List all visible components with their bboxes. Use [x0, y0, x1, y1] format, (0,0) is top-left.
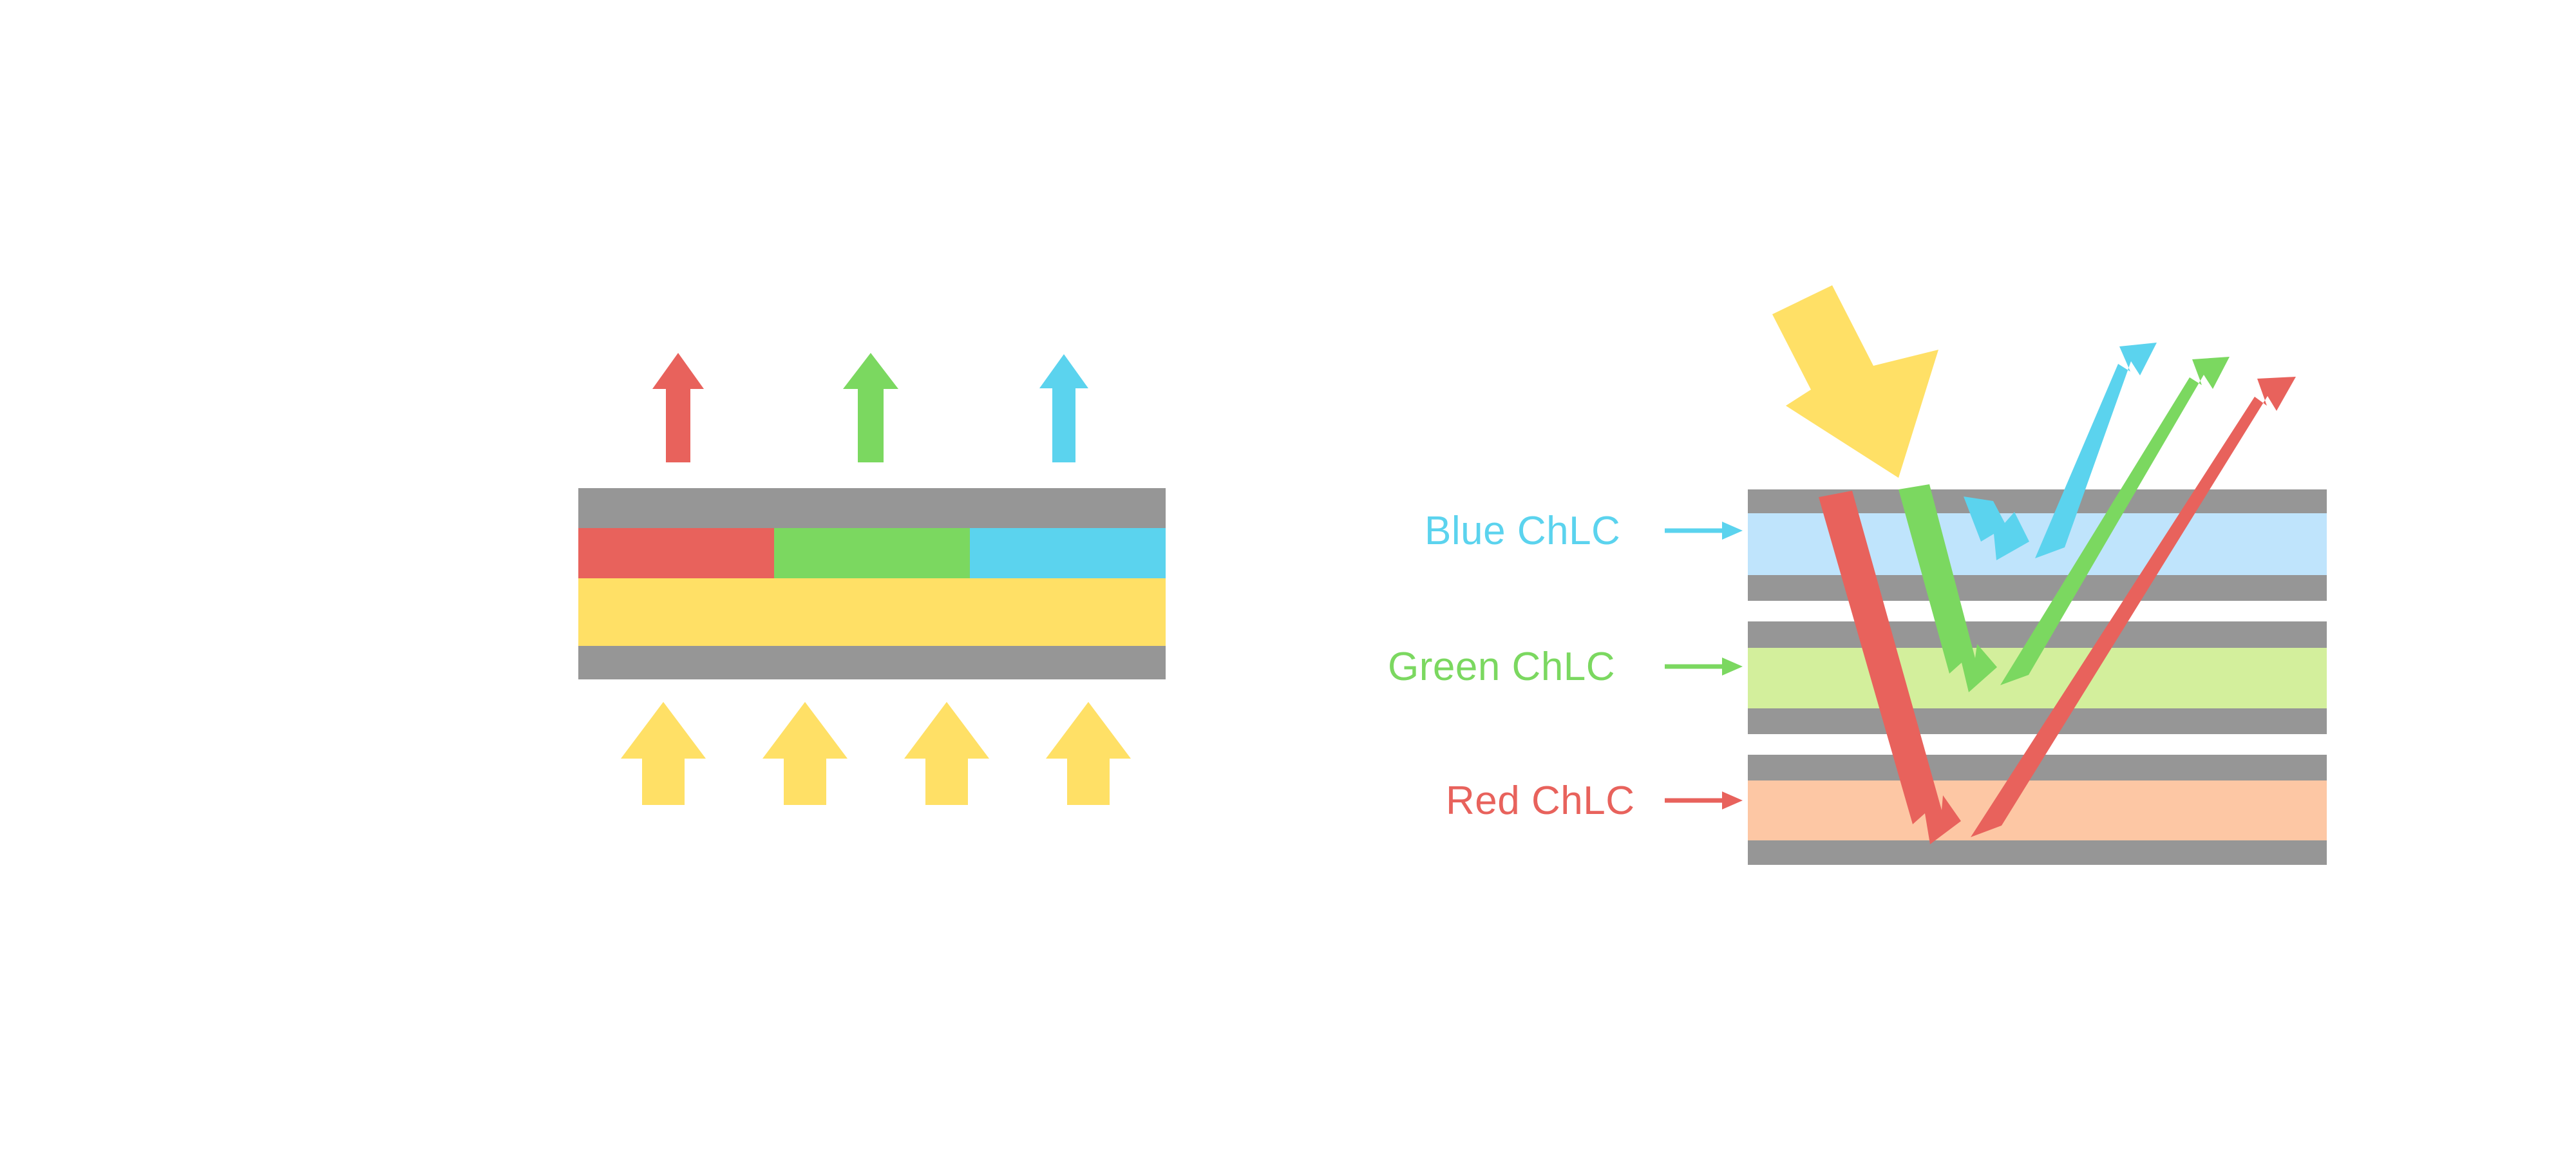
backlight-layer	[578, 578, 1166, 646]
green-bottom-electrode	[1748, 708, 2327, 734]
backlight-arrow-2	[762, 702, 848, 805]
green-emission-arrow	[843, 353, 898, 462]
bottom-electrode-layer	[578, 646, 1166, 679]
green-label-leader-head	[1722, 657, 1743, 676]
red-bottom-electrode	[1748, 840, 2327, 865]
backlight-arrow-1	[621, 702, 706, 805]
reflection-panel	[1665, 285, 2327, 865]
red-label-leader-head	[1722, 791, 1743, 809]
label-leader-arrows	[1665, 522, 1743, 809]
emission-panel	[578, 353, 1166, 805]
green-subpixel	[774, 528, 970, 578]
backlight-arrow-3	[904, 702, 989, 805]
red-chlc-label: Red ChLC	[1446, 781, 1634, 821]
red-subpixel	[578, 528, 774, 578]
blue-chlc-label: Blue ChLC	[1425, 511, 1620, 551]
blue-bottom-electrode	[1748, 575, 2327, 601]
backlight-arrow-4	[1046, 702, 1131, 805]
red-chlc-layer	[1748, 780, 2327, 840]
incident-white-light-arrow	[1772, 285, 1938, 478]
figure-canvas: Blue ChLC Green ChLC Red ChLC	[0, 0, 2576, 1154]
green-chlc-label: Green ChLC	[1388, 647, 1615, 687]
red-emission-arrow	[652, 353, 704, 462]
blue-subpixel	[970, 528, 1166, 578]
blue-emission-arrow	[1039, 354, 1088, 462]
diagram-svg	[0, 0, 2576, 1154]
blue-label-leader-head	[1722, 522, 1743, 540]
top-electrode-layer	[578, 488, 1166, 528]
